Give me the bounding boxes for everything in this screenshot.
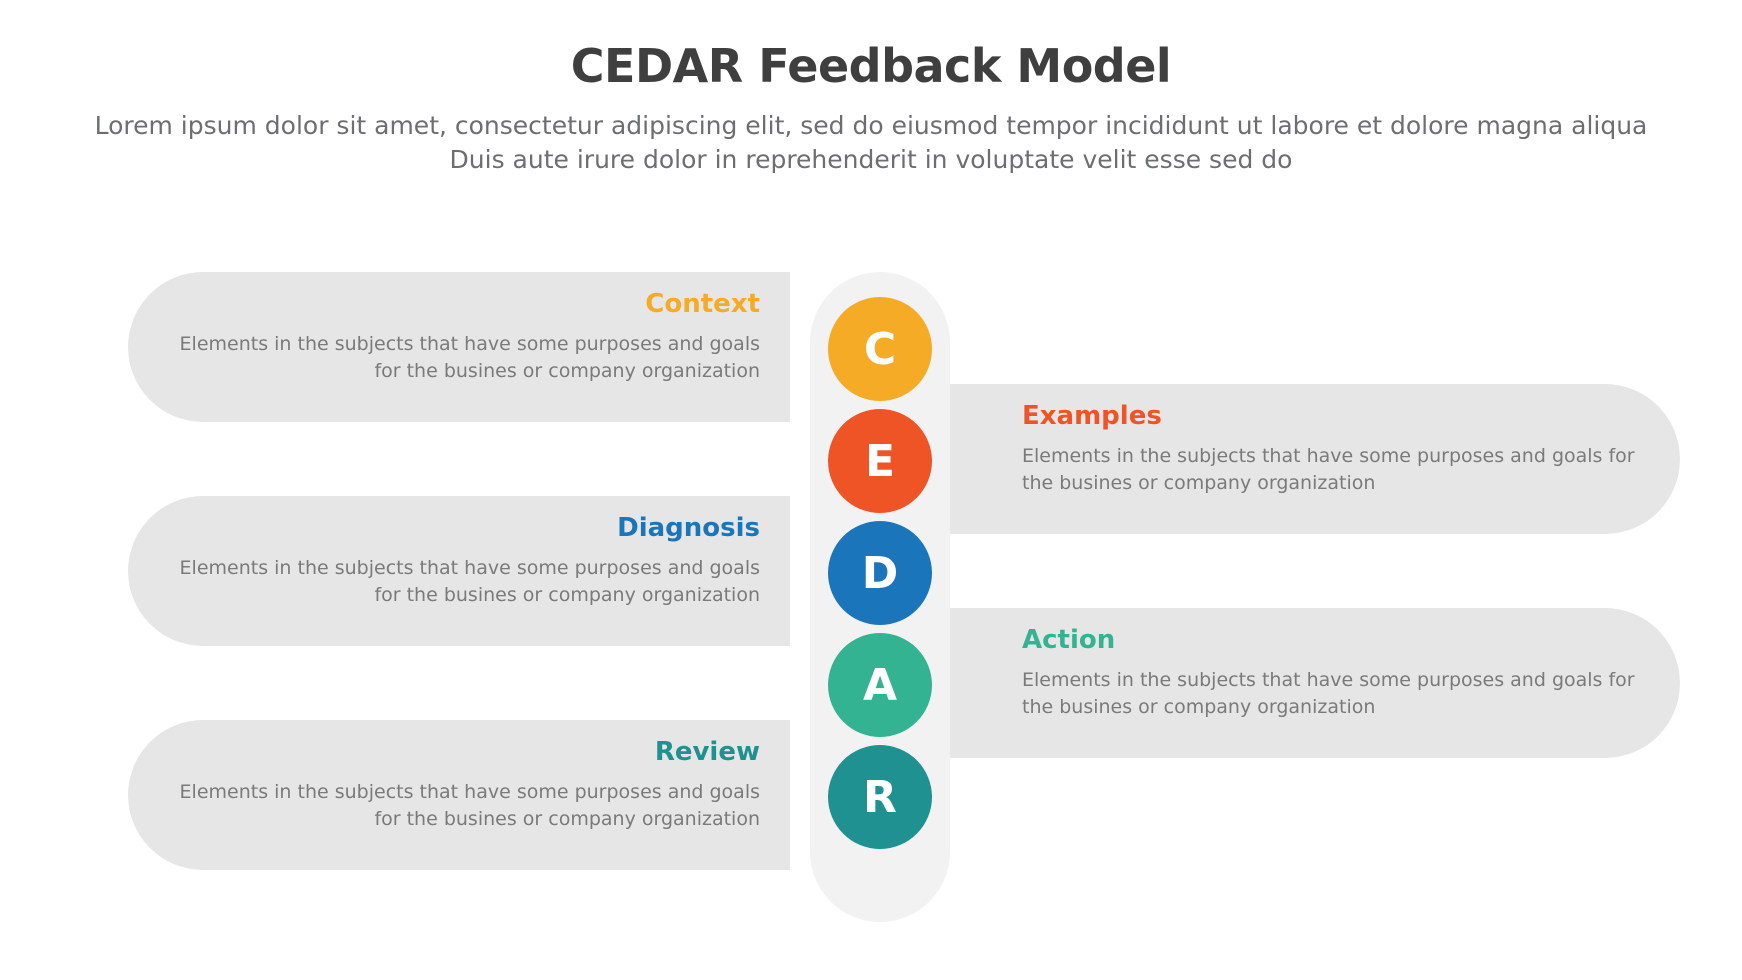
letter-badge-a[interactable]: A bbox=[828, 633, 932, 737]
row-heading-context: Context bbox=[150, 290, 760, 319]
row-description-examples: Elements in the subjects that have some … bbox=[1022, 443, 1642, 498]
header: CEDAR Feedback Model Lorem ipsum dolor s… bbox=[0, 40, 1742, 178]
letter-badge-e[interactable]: E bbox=[828, 409, 932, 513]
row-heading-diagnosis: Diagnosis bbox=[150, 514, 760, 543]
row-heading-examples: Examples bbox=[1022, 402, 1642, 431]
row-content-context: Context Elements in the subjects that ha… bbox=[150, 290, 760, 386]
infographic-canvas: CEDAR Feedback Model Lorem ipsum dolor s… bbox=[0, 0, 1742, 980]
row-description-action: Elements in the subjects that have some … bbox=[1022, 667, 1642, 722]
row-content-diagnosis: Diagnosis Elements in the subjects that … bbox=[150, 514, 760, 610]
page-title: CEDAR Feedback Model bbox=[0, 40, 1742, 93]
row-content-review: Review Elements in the subjects that hav… bbox=[150, 738, 760, 834]
row-description-review: Elements in the subjects that have some … bbox=[150, 779, 760, 834]
letter-badge-c[interactable]: C bbox=[828, 297, 932, 401]
row-heading-review: Review bbox=[150, 738, 760, 767]
row-content-examples: Examples Elements in the subjects that h… bbox=[1022, 402, 1642, 498]
row-content-action: Action Elements in the subjects that hav… bbox=[1022, 626, 1642, 722]
row-heading-action: Action bbox=[1022, 626, 1642, 655]
row-description-diagnosis: Elements in the subjects that have some … bbox=[150, 555, 760, 610]
letter-badge-d[interactable]: D bbox=[828, 521, 932, 625]
letter-badge-r[interactable]: R bbox=[828, 745, 932, 849]
page-subtitle: Lorem ipsum dolor sit amet, consectetur … bbox=[86, 109, 1656, 178]
row-description-context: Elements in the subjects that have some … bbox=[150, 331, 760, 386]
